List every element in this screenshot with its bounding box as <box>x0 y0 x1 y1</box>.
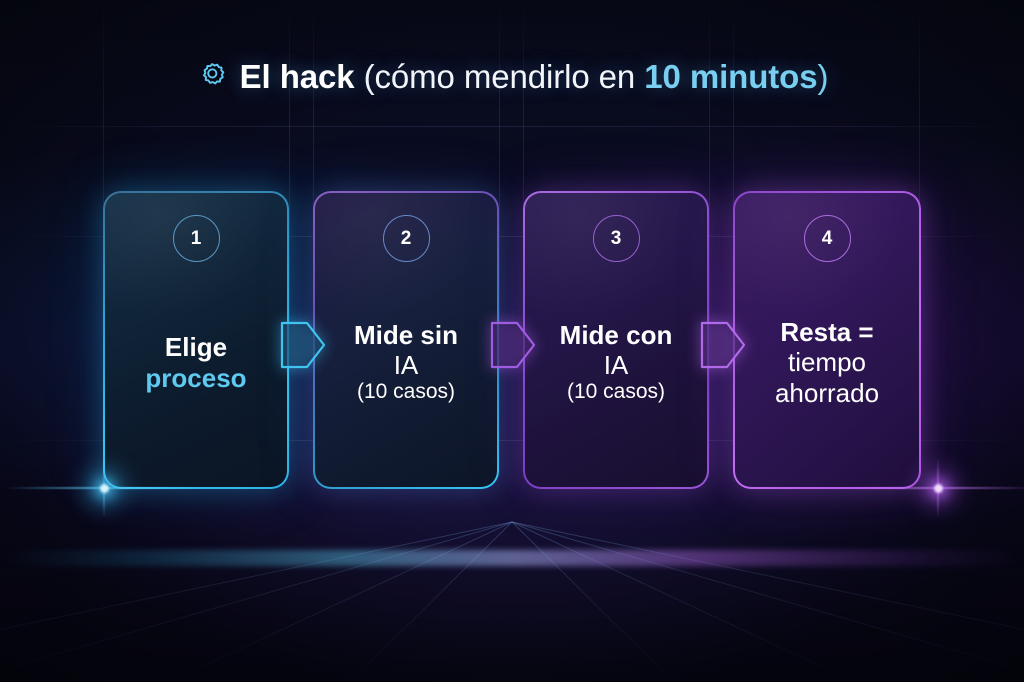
perspective-floor <box>0 492 1024 682</box>
step-card-3[interactable]: 3 Mide con IA (10 casos) <box>523 191 709 489</box>
step-card-4[interactable]: 4 Resta = tiempo ahorrado <box>733 191 921 489</box>
title-accent: 10 minutos <box>644 58 817 95</box>
step-card-text: Mide sin IA (10 casos) <box>315 262 497 487</box>
step-card-text: Mide con IA (10 casos) <box>525 262 707 487</box>
step-line: Mide con <box>560 320 673 350</box>
step-line: Resta = <box>780 317 873 347</box>
step-card-text: Elige proceso <box>105 262 287 487</box>
slide-title: El hack (cómo mendirlo en 10 minutos) <box>0 57 1024 96</box>
slide-canvas: El hack (cómo mendirlo en 10 minutos) 1 … <box>0 0 1024 682</box>
step-line: ahorrado <box>775 378 879 408</box>
step-card-text: Resta = tiempo ahorrado <box>735 262 919 487</box>
step-line: Mide sin <box>354 320 458 350</box>
step-card-2[interactable]: 2 Mide sin IA (10 casos) <box>313 191 499 489</box>
step-line: proceso <box>145 363 246 393</box>
step-line: (10 casos) <box>567 380 665 404</box>
step-number-badge: 1 <box>173 215 220 262</box>
step-number-badge: 3 <box>593 215 640 262</box>
step-line: Elige <box>165 332 227 362</box>
step-number-badge: 4 <box>804 215 851 262</box>
title-text: El hack (cómo mendirlo en 10 minutos) <box>240 60 829 93</box>
arrow-step2-to-step3 <box>491 317 535 373</box>
step-number-badge: 2 <box>383 215 430 262</box>
title-bold: El hack <box>240 58 355 95</box>
step-line: tiempo <box>788 347 866 377</box>
arrow-step3-to-step4 <box>701 317 745 373</box>
step-line: (10 casos) <box>357 380 455 404</box>
gear-icon <box>196 59 228 96</box>
horizon-glow <box>0 550 1024 566</box>
step-card-1[interactable]: 1 Elige proceso <box>103 191 289 489</box>
step-line: IA <box>604 350 629 380</box>
title-light: cómo mendirlo en <box>374 58 644 95</box>
title-paren-close: ) <box>817 58 828 95</box>
step-line: IA <box>394 350 419 380</box>
title-paren-open: ( <box>364 58 375 95</box>
arrow-step1-to-step2 <box>281 317 325 373</box>
